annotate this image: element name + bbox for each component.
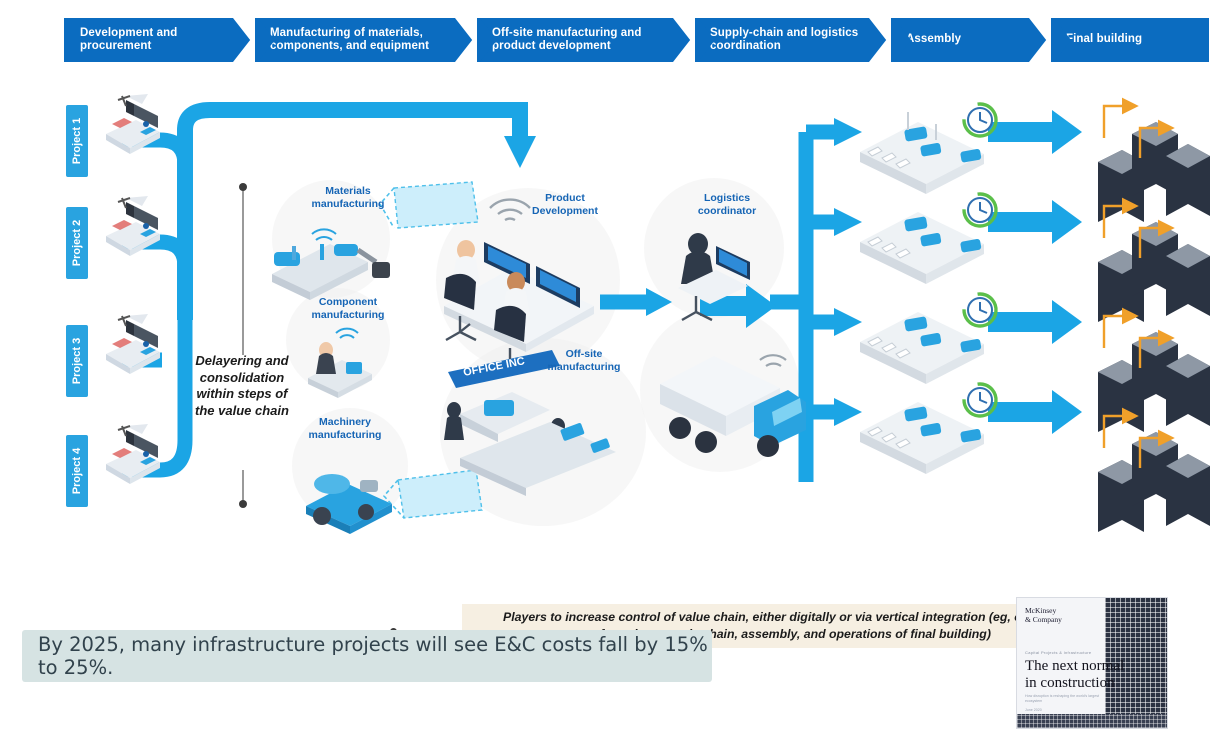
label-offsite-manufacturing: Off-site manufacturing [538,348,630,373]
banner-step-label: Supply-chain and logistics coordination [694,27,890,54]
banner-step-supply-chain[interactable]: Supply-chain and logistics coordination [694,18,890,62]
diagram-canvas: Project 1 Project 2 Project 3 Project 4 [0,70,1224,600]
banner-step-assembly[interactable]: Assembly [890,18,1050,62]
banner-step-label: Manufacturing of materials, components, … [254,27,476,54]
report-title-line2: in construction [1025,675,1135,692]
report-date: June 2020 [1025,708,1117,713]
banner-step-label: Development and procurement [64,27,254,54]
banner-step-final-building[interactable]: Final building [1050,18,1209,62]
report-title-line1: The next normal [1025,658,1135,675]
banner-step-offsite[interactable]: Off-site manufacturing and product devel… [476,18,694,62]
report-subtitle: How disruption is reshaping the world's … [1025,694,1117,713]
banner-step-manufacturing[interactable]: Manufacturing of materials, components, … [254,18,476,62]
label-product-development: Product Development [522,192,608,217]
report-cover-thumbnail[interactable]: McKinsey & Company Capital Projects & In… [1016,597,1168,729]
banner-step-development[interactable]: Development and procurement [64,18,254,62]
label-component-manufacturing: Component manufacturing [305,296,391,321]
report-title: The next normal in construction [1025,658,1135,692]
banner-step-label: Assembly [890,33,987,47]
report-kicker: Capital Projects & Infrastructure [1025,650,1091,655]
report-cover-strip-lines [1017,714,1167,728]
mckinsey-logo: McKinsey & Company [1025,606,1062,624]
value-chain-banner: Development and procurement Manufacturin… [64,18,1209,62]
label-logistics-coordinator: Logistics coordinator [678,192,776,217]
summary-caption: By 2025, many infrastructure projects wi… [22,630,712,682]
mckinsey-logo-line2: & Company [1025,615,1062,624]
summary-caption-text: By 2025, many infrastructure projects wi… [22,633,712,679]
mckinsey-logo-line1: McKinsey [1025,606,1062,615]
label-materials-manufacturing: Materials manufacturing [305,185,391,210]
banner-step-label: Off-site manufacturing and product devel… [476,27,694,54]
banner-step-label: Final building [1050,33,1168,47]
report-subtitle-text: How disruption is reshaping the world's … [1025,694,1117,704]
label-machinery-manufacturing: Machinery manufacturing [297,416,393,441]
final-building-illustrations [0,70,1224,600]
